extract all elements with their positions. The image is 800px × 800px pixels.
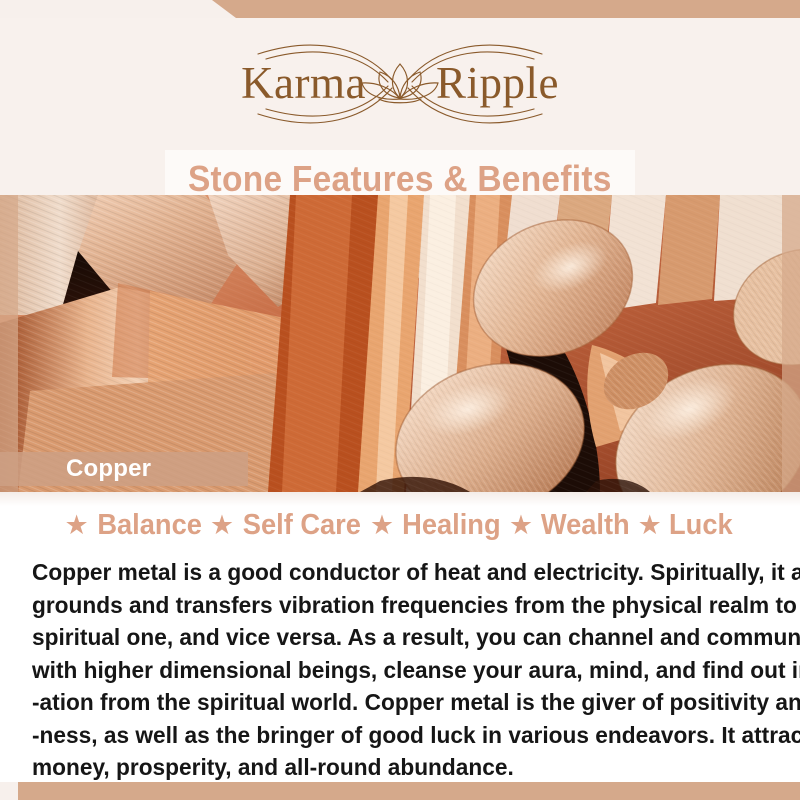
description-line: Copper metal is a good conductor of heat… [32,556,748,589]
benefit-keyword-luck: Luck [666,509,735,542]
benefit-keyword-balance: Balance [94,509,204,542]
benefit-keywords-row: ★ Balance ★ Self Care ★ Healing ★ Wealth… [0,509,800,542]
photo-left-edge-overlay [0,195,18,492]
star-icon: ★ [208,512,236,539]
brand-logo: Karma Ripple [170,36,630,132]
top-frame-bar [0,0,800,18]
star-icon: ★ [62,512,90,539]
poster-header: Karma Ripple Stone Features & Benefits [0,18,800,195]
brand-name-left: Karma [241,58,366,108]
lotus-flourish-icon: Karma Ripple [170,36,630,132]
description-line: money, prosperity, and all-round abundan… [32,751,748,784]
product-info-poster: Karma Ripple Stone Features & Benefits [0,0,800,800]
description-line: -ation from the spiritual world. Copper … [32,686,748,719]
description-line: grounds and transfers vibration frequenc… [32,589,748,622]
stone-name-label: Copper [66,455,151,483]
benefit-keyword-self-care: Self Care [240,509,364,542]
star-icon: ★ [368,512,396,539]
brand-name-right: Ripple [436,58,559,108]
page-title: Stone Features & Benefits [188,158,612,200]
benefit-keyword-healing: Healing [399,509,503,542]
description-text: Copper metal is a good conductor of heat… [32,556,774,784]
star-icon: ★ [636,512,664,539]
description-line: -ness, as well as the bringer of good lu… [32,719,748,752]
copper-bars-photo [0,195,800,492]
photo-right-edge-overlay [782,195,800,492]
benefit-keyword-wealth: Wealth [538,509,633,542]
star-icon: ★ [507,512,535,539]
description-line: with higher dimensional beings, cleanse … [32,654,748,687]
description-line: spiritual one, and vice versa. As a resu… [32,621,748,654]
stone-name-band: Copper [0,452,248,486]
photo-content-divider [0,492,800,506]
